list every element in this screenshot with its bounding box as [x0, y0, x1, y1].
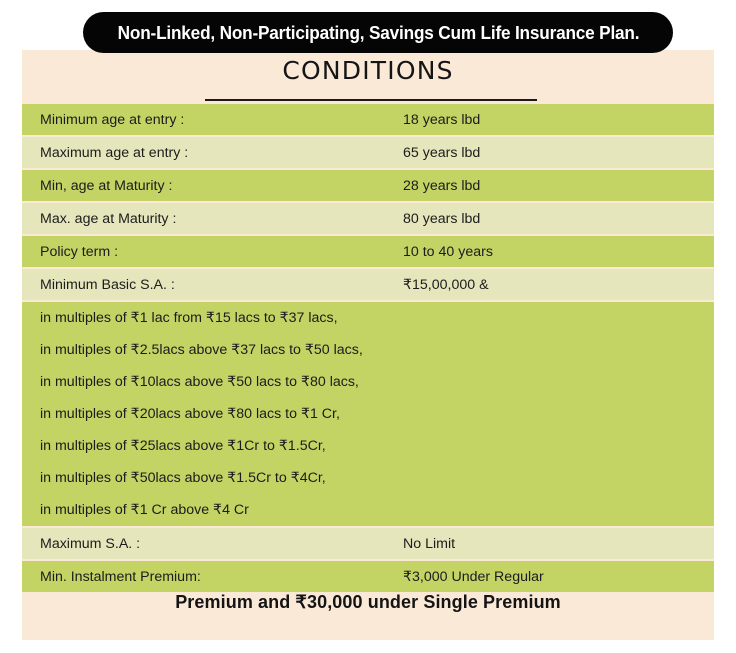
table-row: Minimum Basic S.A. :₹15,00,000 &	[22, 269, 714, 300]
table-row: Maximum S.A. :No Limit	[22, 528, 714, 559]
conditions-table: Minimum age at entry :18 years lbdMaximu…	[22, 104, 714, 594]
multiples-line: in multiples of ₹10lacs above ₹50 lacs t…	[22, 366, 714, 398]
row-value: 28 years lbd	[403, 178, 480, 194]
row-label: Max. age at Maturity :	[40, 211, 176, 227]
plan-type-banner: Non-Linked, Non-Participating, Savings C…	[83, 12, 673, 53]
row-value: 65 years lbd	[403, 145, 480, 161]
multiples-line: in multiples of ₹1 lac from ₹15 lacs to …	[22, 302, 714, 334]
row-value: No Limit	[403, 536, 455, 552]
page-title: CONDITIONS	[22, 56, 714, 86]
row-label: Minimum age at entry :	[40, 112, 184, 128]
row-label: Maximum age at entry :	[40, 145, 188, 161]
row-label: Minimum Basic S.A. :	[40, 277, 175, 293]
row-value: 10 to 40 years	[403, 244, 493, 260]
multiples-line: in multiples of ₹50lacs above ₹1.5Cr to …	[22, 462, 714, 494]
multiples-line: in multiples of ₹2.5lacs above ₹37 lacs …	[22, 334, 714, 366]
multiples-line: in multiples of ₹1 Cr above ₹4 Cr	[22, 494, 714, 526]
row-value: ₹15,00,000 &	[403, 277, 489, 293]
multiples-line: in multiples of ₹20lacs above ₹80 lacs t…	[22, 398, 714, 430]
row-label: Maximum S.A. :	[40, 536, 140, 552]
row-label: Min. Instalment Premium:	[40, 569, 201, 585]
table-row: Min, age at Maturity :28 years lbd	[22, 170, 714, 201]
row-label: Policy term :	[40, 244, 118, 260]
row-value: 80 years lbd	[403, 211, 480, 227]
table-row: Policy term :10 to 40 years	[22, 236, 714, 267]
multiples-line: in multiples of ₹25lacs above ₹1Cr to ₹1…	[22, 430, 714, 462]
table-row: Maximum age at entry :65 years lbd	[22, 137, 714, 168]
footer-note: Premium and ₹30,000 under Single Premium	[22, 592, 714, 613]
row-label: Min, age at Maturity :	[40, 178, 172, 194]
row-value: ₹3,000 Under Regular	[403, 569, 544, 585]
table-row: Max. age at Maturity :80 years lbd	[22, 203, 714, 234]
table-row: Min. Instalment Premium:₹3,000 Under Reg…	[22, 561, 714, 592]
table-row: Minimum age at entry :18 years lbd	[22, 104, 714, 135]
sum-assured-multiples-block: in multiples of ₹1 lac from ₹15 lacs to …	[22, 302, 714, 526]
page-title-container: CONDITIONS	[22, 56, 714, 86]
plan-type-banner-text: Non-Linked, Non-Participating, Savings C…	[117, 22, 639, 44]
title-divider	[205, 99, 537, 101]
row-value: 18 years lbd	[403, 112, 480, 128]
